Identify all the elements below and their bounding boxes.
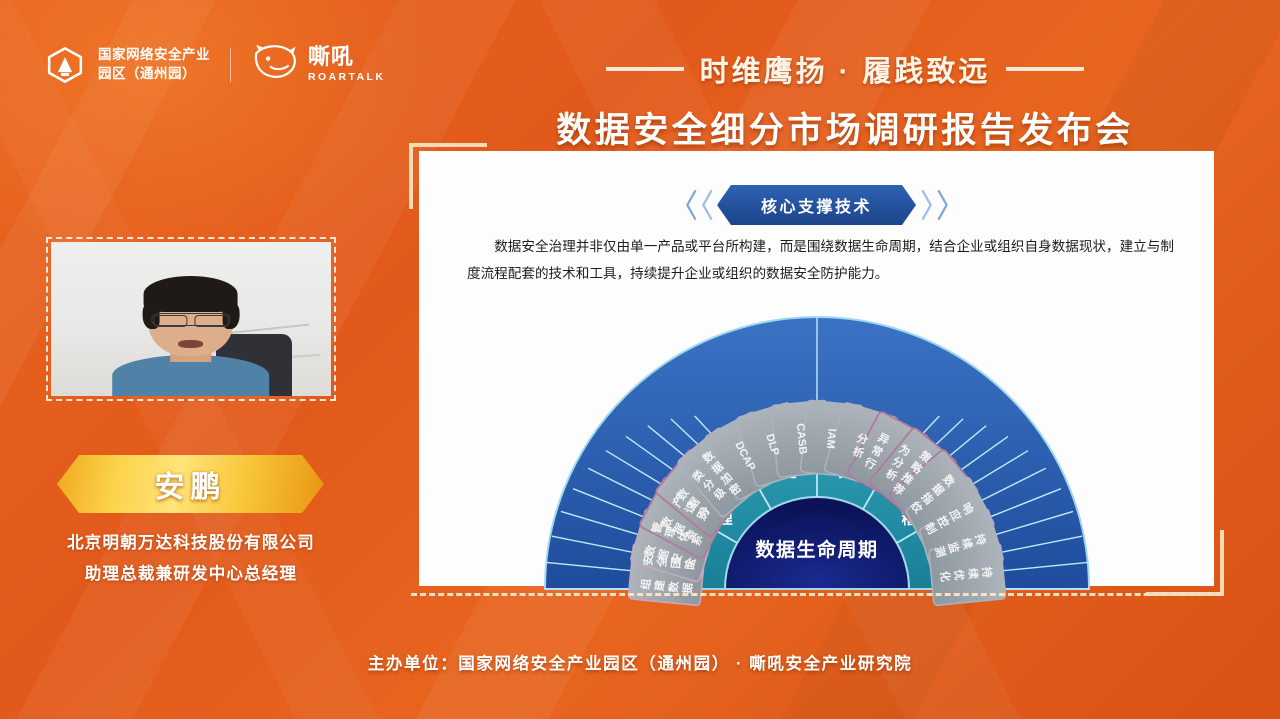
chevron-left-outer-icon [685,188,696,222]
slide-bottom-dash [411,593,1222,596]
speaker-video-border [46,237,336,401]
title-rule-left [606,67,684,71]
diagram-svg: 数据生命周期 组织梳理 资产梳理 策略制定 过程控制 [537,311,1097,593]
slide-content: 核心支撑技术 数据安全治理并非仅由单一产品或平台所构建，而是围绕数据生命周期，结… [419,151,1214,586]
event-footer: 主办单位：国家网络安全产业园区（通州园） · 嘶吼安全产业研究院 [0,650,1280,674]
speaker-title: 助理总裁兼研发中心总经理 [20,559,362,590]
diagram-center-label: 数据生命周期 [755,538,878,561]
roartalk-cn-name: 嘶吼 [308,46,385,68]
slide-paragraph: 数据安全治理并非仅由单一产品或平台所构建，而是围绕数据生命周期，结合企业或组织自… [467,233,1174,287]
presentation-stage: 国家网络安全产业 园区（通州园） 嘶吼 ROARTALK [0,0,1280,719]
slide-frame: 核心支撑技术 数据安全治理并非仅由单一产品或平台所构建，而是围绕数据生命周期，结… [409,143,1224,608]
outer-chip-label-8: IAM [823,428,837,449]
brand-logo-bar: 国家网络安全产业 园区（通州园） 嘶吼 ROARTALK [46,42,385,87]
slide-section-title: 核心支撑技术 [717,185,916,225]
svg-text:IAM: IAM [823,428,837,449]
event-subtitle-row: 时维鹰扬 · 履践致远 [500,48,1190,90]
title-rule-right [1006,67,1084,71]
park-brand-name: 国家网络安全产业 园区（通州园） [98,46,210,82]
speaker-video-card[interactable] [46,237,336,401]
roartalk-en-name: ROARTALK [308,72,385,83]
park-name-line1: 国家网络安全产业 [98,46,210,64]
data-security-governance-diagram: 数据生命周期 组织梳理 资产梳理 策略制定 过程控制 [537,311,1097,591]
chevron-left-inner-icon [701,188,712,222]
slide-corner-bottom-right [1146,530,1224,596]
slide-left-dash [421,211,423,574]
roartalk-brand: 嘶吼 ROARTALK [251,42,385,87]
slide-corner-top-left [409,143,487,209]
speaker-name: 安鹏 [155,462,227,506]
event-subtitle: 时维鹰扬 · 履践致远 [700,48,991,90]
speaker-affiliation: 北京明朝万达科技股份有限公司 助理总裁兼研发中心总经理 [20,528,362,589]
shield-mountain-icon [46,46,84,84]
brand-divider [230,48,231,82]
event-title-block: 时维鹰扬 · 履践致远 数据安全细分市场调研报告发布会 [500,48,1190,153]
wolf-head-icon [251,42,299,87]
chevron-right-outer-icon [937,188,948,222]
speaker-name-badge: 安鹏 [57,455,324,513]
slide-section-header: 核心支撑技术 [685,185,948,225]
park-name-line2: 园区（通州园） [98,65,210,83]
speaker-company: 北京明朝万达科技股份有限公司 [20,528,362,559]
chevron-right-inner-icon [921,188,932,222]
